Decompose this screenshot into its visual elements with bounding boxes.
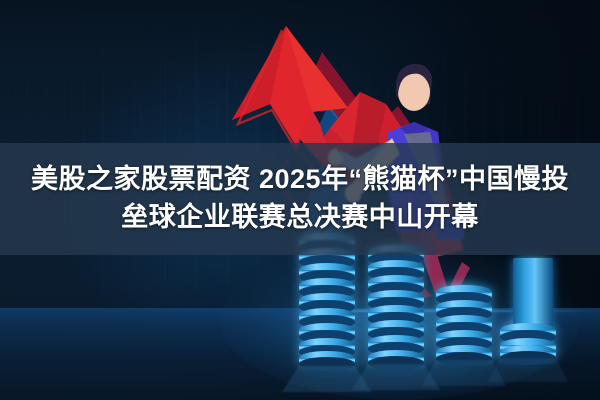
headline-line-2: 垒球企业联赛总决赛中山开幕 [121,202,479,234]
coin-stack-2 [368,245,424,370]
cover-image: 美股之家股票配资 2025年“熊猫杯”中国慢投 垒球企业联赛总决赛中山开幕 [0,0,600,400]
value-bar [513,258,553,330]
headline-line-1: 美股之家股票配资 2025年“熊猫杯”中国慢投 [31,164,569,196]
headline: 美股之家股票配资 2025年“熊猫杯”中国慢投 垒球企业联赛总决赛中山开幕 [0,143,600,255]
coin-stack-3 [436,285,492,366]
